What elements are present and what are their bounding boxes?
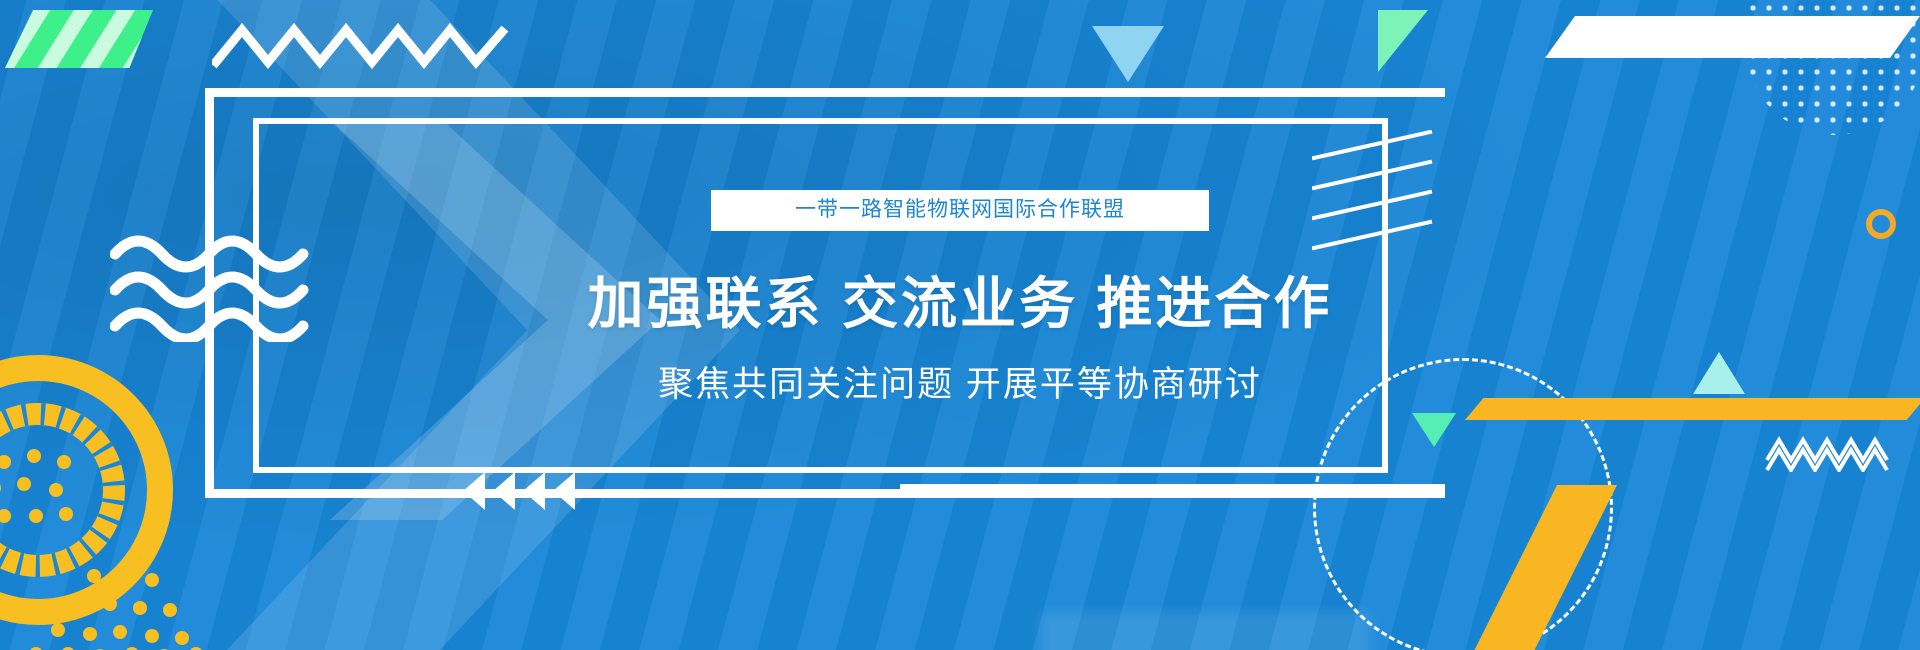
banner-subheadline: 聚焦共同关注问题 开展平等协商研讨 [560, 356, 1360, 407]
banner-text-block: 一带一路智能物联网国际合作联盟 加强联系 交流业务 推进合作 聚焦共同关注问题 … [560, 190, 1360, 407]
trapezoid-stripes [5, 10, 153, 68]
halftone-dots [1745, 0, 1920, 135]
left-chevrons-icon [463, 470, 603, 512]
yellow-bar-horizontal [1465, 398, 1920, 420]
green-striped-trapezoid [5, 10, 153, 68]
zigzag-small-icon [1765, 430, 1895, 472]
bottom-glow [1040, 612, 1370, 650]
mint-corner-triangle-icon [1378, 10, 1428, 72]
banner-headline: 加强联系 交流业务 推进合作 [560, 259, 1360, 340]
down-triangle-icon [1092, 26, 1164, 82]
promotional-banner: 一带一路智能物联网国际合作联盟 加强联系 交流业务 推进合作 聚焦共同关注问题 … [0, 0, 1920, 650]
organization-label: 一带一路智能物联网国际合作联盟 [711, 190, 1209, 231]
yellow-concentric-rings-icon [0, 330, 228, 650]
cyan-triangle-icon [1693, 352, 1745, 394]
zigzag-icon [212, 22, 512, 70]
orange-ring-icon [1866, 209, 1896, 239]
